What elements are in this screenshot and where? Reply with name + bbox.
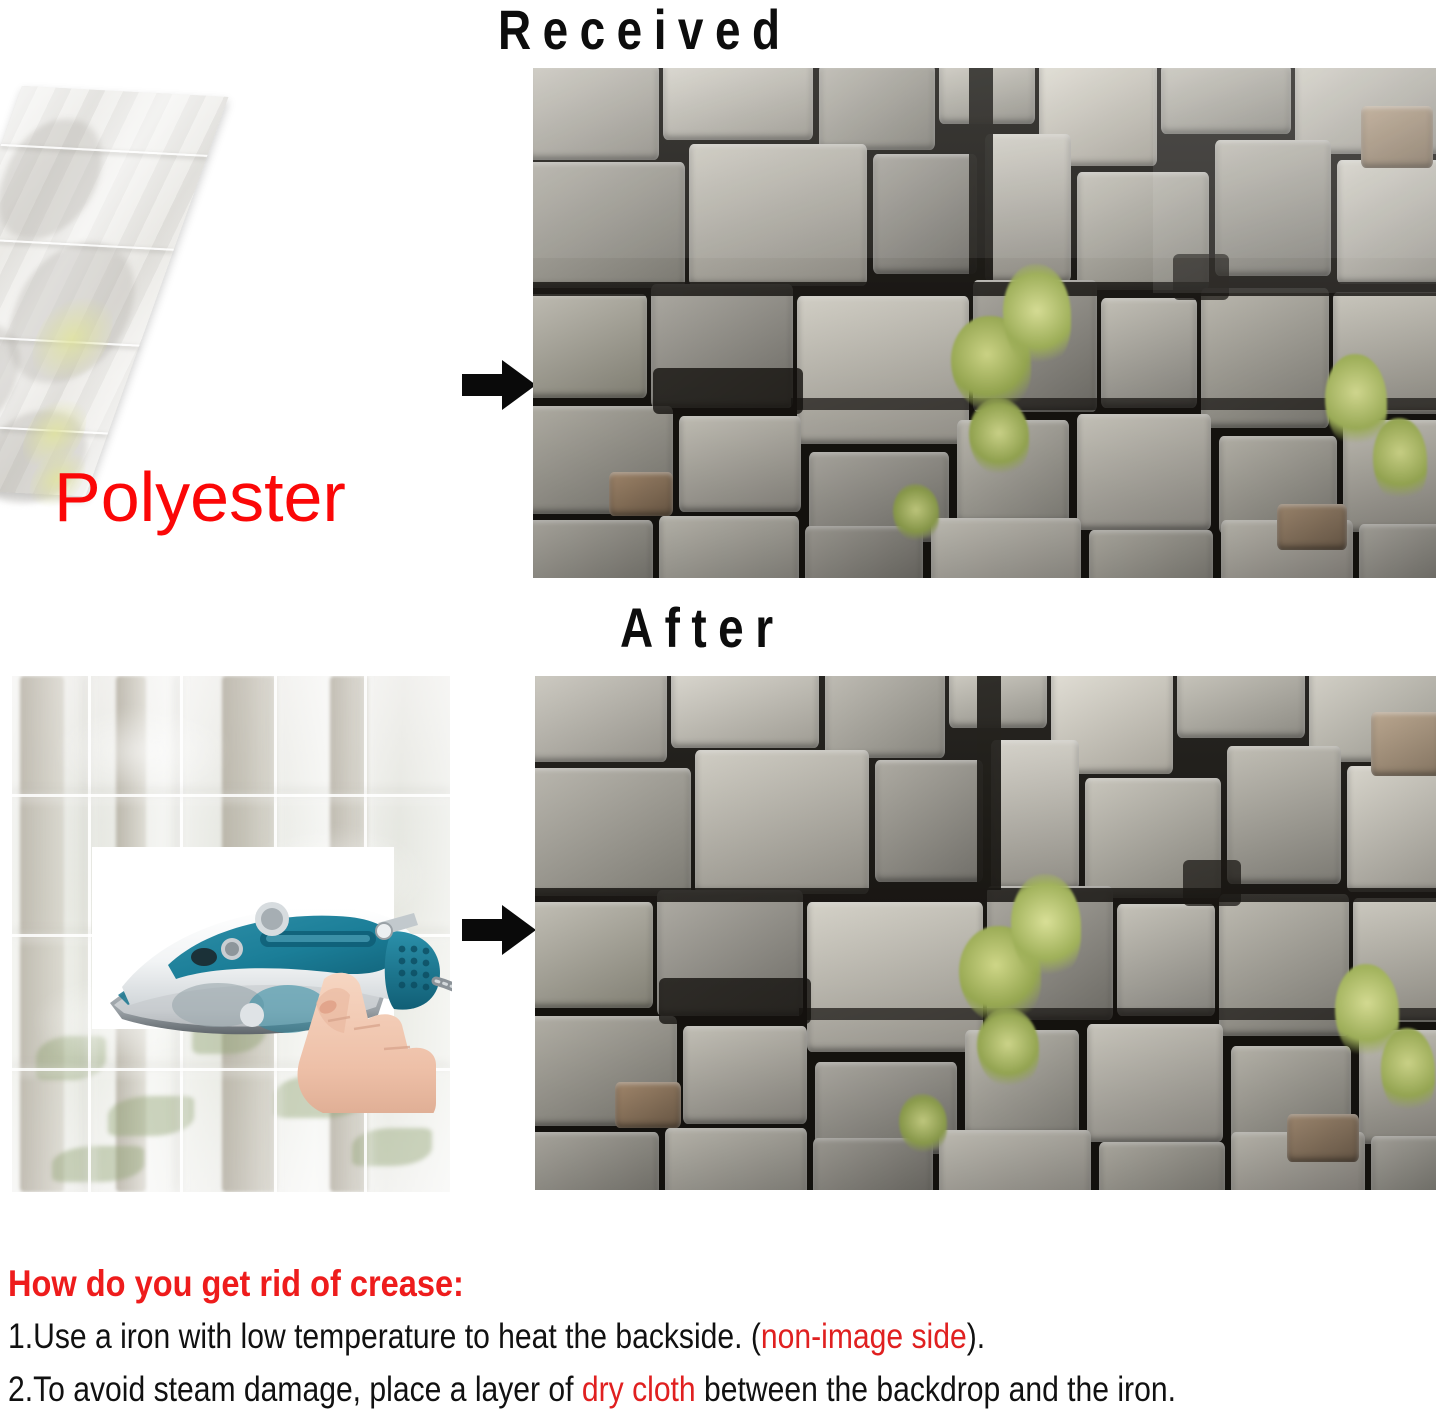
- polyester-fabric-swatch: [0, 86, 228, 496]
- right-arrow-icon: [462, 358, 536, 417]
- instruction-2-text-part2: between the backdrop and the iron.: [696, 1370, 1176, 1409]
- received-backdrop-photo: [533, 68, 1436, 578]
- instruction-1-highlight: non-image side: [761, 1317, 967, 1356]
- after-section-title: After: [620, 600, 785, 656]
- received-section-title: Received: [498, 2, 792, 58]
- instruction-1-text-part2: ).: [967, 1317, 985, 1356]
- right-arrow-icon: [462, 903, 536, 962]
- instruction-2-text-part1: 2.To avoid steam damage, place a layer o…: [8, 1370, 582, 1409]
- instruction-1-text-part1: 1.Use a iron with low temperature to hea…: [8, 1317, 761, 1356]
- instruction-2-highlight: dry cloth: [582, 1370, 696, 1409]
- hand-ironing-icon: [92, 847, 394, 1029]
- iron-photo-card: [92, 847, 394, 1029]
- after-backdrop-photo: [535, 676, 1436, 1190]
- instructions-heading: How do you get rid of crease:: [8, 1262, 1261, 1306]
- instruction-line-1: 1.Use a iron with low temperature to hea…: [8, 1314, 1233, 1360]
- instructions-block: How do you get rid of crease: 1.Use a ir…: [8, 1262, 1432, 1413]
- instruction-line-2: 2.To avoid steam damage, place a layer o…: [8, 1367, 1233, 1413]
- polyester-label: Polyester: [54, 462, 346, 532]
